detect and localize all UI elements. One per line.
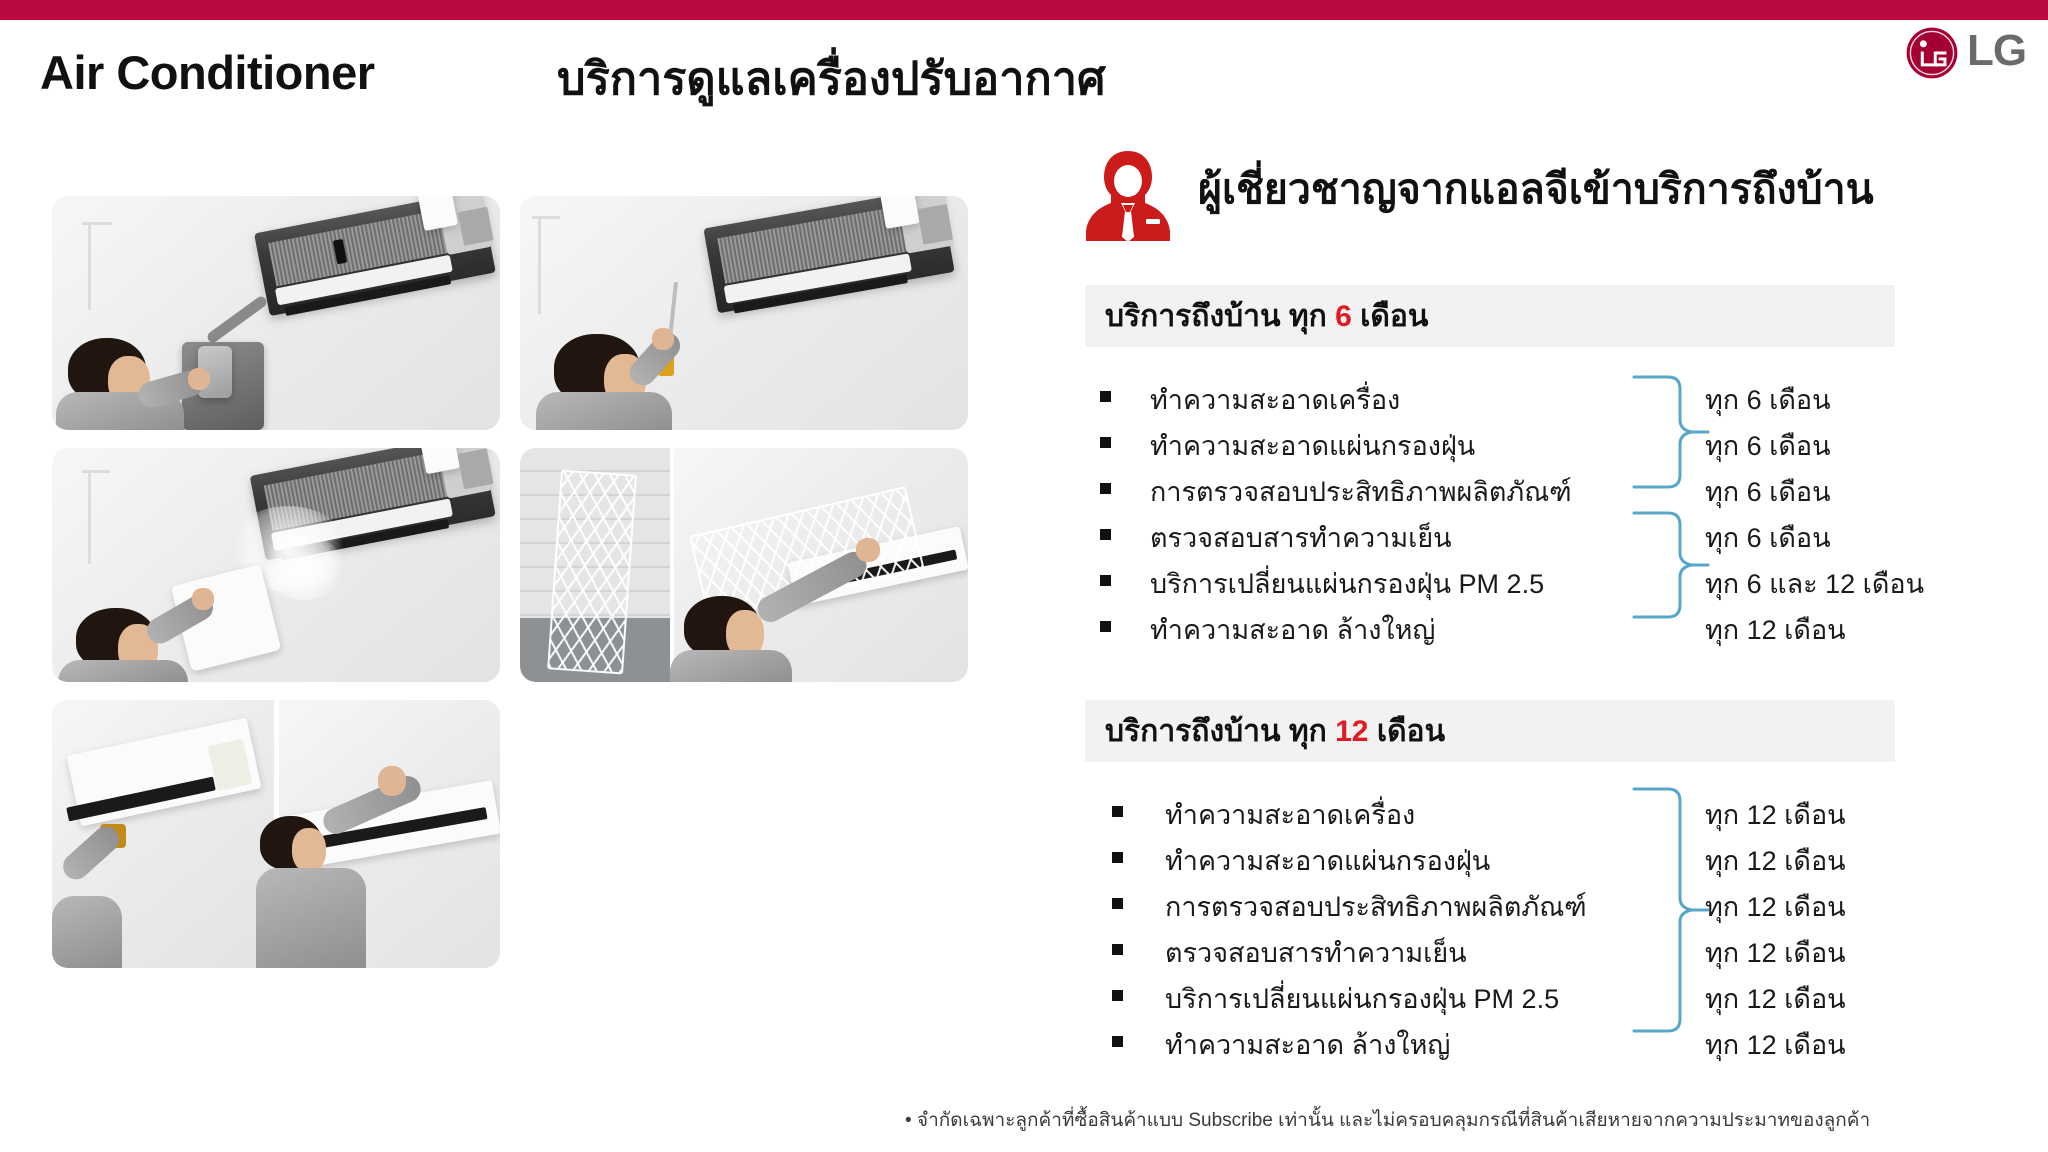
row-value: ทุก 12 เดือน	[1705, 1023, 1846, 1066]
section-2-interval-number: 12	[1335, 715, 1368, 748]
table-row[interactable]: ทำความสะอาด ล้างใหญ่ ทุก 12 เดือน	[1085, 1018, 2025, 1064]
table-row[interactable]: ทำความสะอาดเครื่อง ทุก 6 เดือน	[1085, 373, 2025, 419]
page-title-en: Air Conditioner	[40, 45, 375, 100]
row-label: ทำความสะอาดเครื่อง	[1150, 378, 1400, 421]
expert-label: ผู้เชี่ยวชาญจากแอลจีเข้าบริการถึงบ้าน	[1198, 157, 1874, 222]
gallery-photo-5[interactable]	[52, 700, 500, 968]
pm25-filter-left	[547, 470, 637, 675]
bullet-icon	[1112, 898, 1123, 909]
wall-detail	[82, 470, 110, 473]
table-row[interactable]: ตรวจสอบสารทำความเย็น ทุก 6 เดือน	[1085, 511, 2025, 557]
table-row[interactable]: การตรวจสอบประสิทธิภาพผลิตภัณฑ์ ทุก 12 เด…	[1085, 880, 2025, 926]
technician-face	[292, 828, 326, 872]
row-value: ทุก 6 เดือน	[1705, 470, 1831, 513]
section-1-interval-number: 6	[1335, 300, 1352, 333]
row-value: ทุก 12 เดือน	[1705, 608, 1846, 651]
row-label: บริการเปลี่ยนแผ่นกรองฝุ่น PM 2.5	[1150, 562, 1544, 605]
technician-person-icon	[1078, 145, 1178, 245]
section-2-title: บริการถึงบ้าน ทุก 12 เดือน	[1105, 708, 1445, 755]
row-label: ตรวจสอบสารทำความเย็น	[1150, 516, 1452, 559]
technician-body	[670, 650, 792, 682]
section-2-brace-1	[1628, 784, 1712, 1036]
row-label: การตรวจสอบประสิทธิภาพผลิตภัณฑ์	[1150, 470, 1572, 513]
table-row[interactable]: ตรวจสอบสารทำความเย็น ทุก 12 เดือน	[1085, 926, 2025, 972]
wall-detail	[538, 218, 541, 314]
technician-hand	[378, 766, 406, 796]
table-row[interactable]: ทำความสะอาดเครื่อง ทุก 12 เดือน	[1085, 788, 2025, 834]
row-value: ทุก 12 เดือน	[1705, 977, 1846, 1020]
lg-wordmark: LG	[1967, 29, 2026, 73]
row-value: ทุก 12 เดือน	[1705, 793, 1846, 836]
bullet-icon	[1100, 575, 1111, 586]
technician-body	[536, 392, 672, 430]
expert-header: ผู้เชี่ยวชาญจากแอลจีเข้าบริการถึงบ้าน	[1078, 143, 1978, 248]
technician-hand	[652, 328, 674, 350]
row-value: ทุก 6 เดือน	[1705, 424, 1831, 467]
table-row[interactable]: การตรวจสอบประสิทธิภาพผลิตภัณฑ์ ทุก 6 เดื…	[1085, 465, 2025, 511]
row-label: ตรวจสอบสารทำความเย็น	[1165, 931, 1467, 974]
row-label: ทำความสะอาด ล้างใหญ่	[1165, 1023, 1450, 1066]
technician-hand	[188, 368, 210, 390]
row-value: ทุก 12 เดือน	[1705, 885, 1846, 928]
table-row[interactable]: บริการเปลี่ยนแผ่นกรองฝุ่น PM 2.5 ทุก 6 แ…	[1085, 557, 2025, 603]
technician-body	[58, 660, 188, 682]
section-2-header: บริการถึงบ้าน ทุก 12 เดือน	[1085, 700, 1895, 762]
bullet-icon	[1100, 483, 1111, 494]
gallery-photo-3[interactable]	[52, 448, 500, 682]
row-label: บริการเปลี่ยนแผ่นกรองฝุ่น PM 2.5	[1165, 977, 1559, 1020]
technician-body	[52, 896, 122, 968]
section-1-brace-2	[1628, 508, 1712, 622]
row-value: ทุก 12 เดือน	[1705, 839, 1846, 882]
lg-logo: LG	[1905, 26, 2030, 82]
technician-body	[256, 868, 366, 968]
bullet-icon	[1100, 621, 1111, 632]
gallery-photo-1[interactable]	[52, 196, 500, 430]
page-title-th: บริการดูแลเครื่องปรับอากาศ	[557, 42, 1106, 114]
table-row[interactable]: ทำความสะอาดแผ่นกรองฝุ่น ทุก 12 เดือน	[1085, 834, 2025, 880]
lg-circle-face-icon	[1905, 26, 1959, 80]
gallery-photo-2[interactable]	[520, 196, 968, 430]
table-row[interactable]: ทำความสะอาดแผ่นกรองฝุ่น ทุก 6 เดือน	[1085, 419, 2025, 465]
table-row[interactable]: ทำความสะอาด ล้างใหญ่ ทุก 12 เดือน	[1085, 603, 2025, 649]
bullet-icon	[1112, 1036, 1123, 1047]
section-1-title: บริการถึงบ้าน ทุก 6 เดือน	[1105, 293, 1428, 340]
section-1-header: บริการถึงบ้าน ทุก 6 เดือน	[1085, 285, 1895, 347]
section-1-rows: ทำความสะอาดเครื่อง ทุก 6 เดือน ทำความสะอ…	[1085, 373, 2025, 649]
bullet-icon	[1100, 437, 1111, 448]
row-label: การตรวจสอบประสิทธิภาพผลิตภัณฑ์	[1165, 885, 1587, 928]
steam-cloud	[260, 536, 346, 600]
row-value: ทุก 6 เดือน	[1705, 516, 1831, 559]
table-row[interactable]: บริการเปลี่ยนแผ่นกรองฝุ่น PM 2.5 ทุก 12 …	[1085, 972, 2025, 1018]
bullet-icon	[1112, 852, 1123, 863]
bullet-icon	[1112, 990, 1123, 1001]
bullet-icon	[1100, 391, 1111, 402]
row-label: ทำความสะอาดแผ่นกรองฝุ่น	[1150, 424, 1475, 467]
technician-hand	[856, 538, 880, 562]
bullet-icon	[1112, 806, 1123, 817]
row-value: ทุก 6 เดือน	[1705, 378, 1831, 421]
wall-detail	[88, 472, 91, 564]
wall-detail	[88, 224, 91, 310]
bullet-icon	[1100, 529, 1111, 540]
row-value: ทุก 6 และ 12 เดือน	[1705, 562, 1924, 605]
section-1-brace-1	[1628, 372, 1712, 492]
row-label: ทำความสะอาดแผ่นกรองฝุ่น	[1165, 839, 1490, 882]
technician-hand	[192, 588, 214, 610]
top-accent-bar	[0, 0, 2048, 20]
row-value: ทุก 12 เดือน	[1705, 931, 1846, 974]
wall-detail	[532, 216, 560, 219]
gallery-photo-4[interactable]	[520, 448, 968, 682]
bullet-icon	[1112, 944, 1123, 955]
row-label: ทำความสะอาด ล้างใหญ่	[1150, 608, 1435, 651]
footnote: • จำกัดเฉพาะลูกค้าที่ซื้อสินค้าแบบ Subsc…	[905, 1105, 2025, 1135]
section-2-rows: ทำความสะอาดเครื่อง ทุก 12 เดือน ทำความสะ…	[1085, 788, 2025, 1064]
wall-detail	[82, 222, 112, 225]
row-label: ทำความสะอาดเครื่อง	[1165, 793, 1415, 836]
